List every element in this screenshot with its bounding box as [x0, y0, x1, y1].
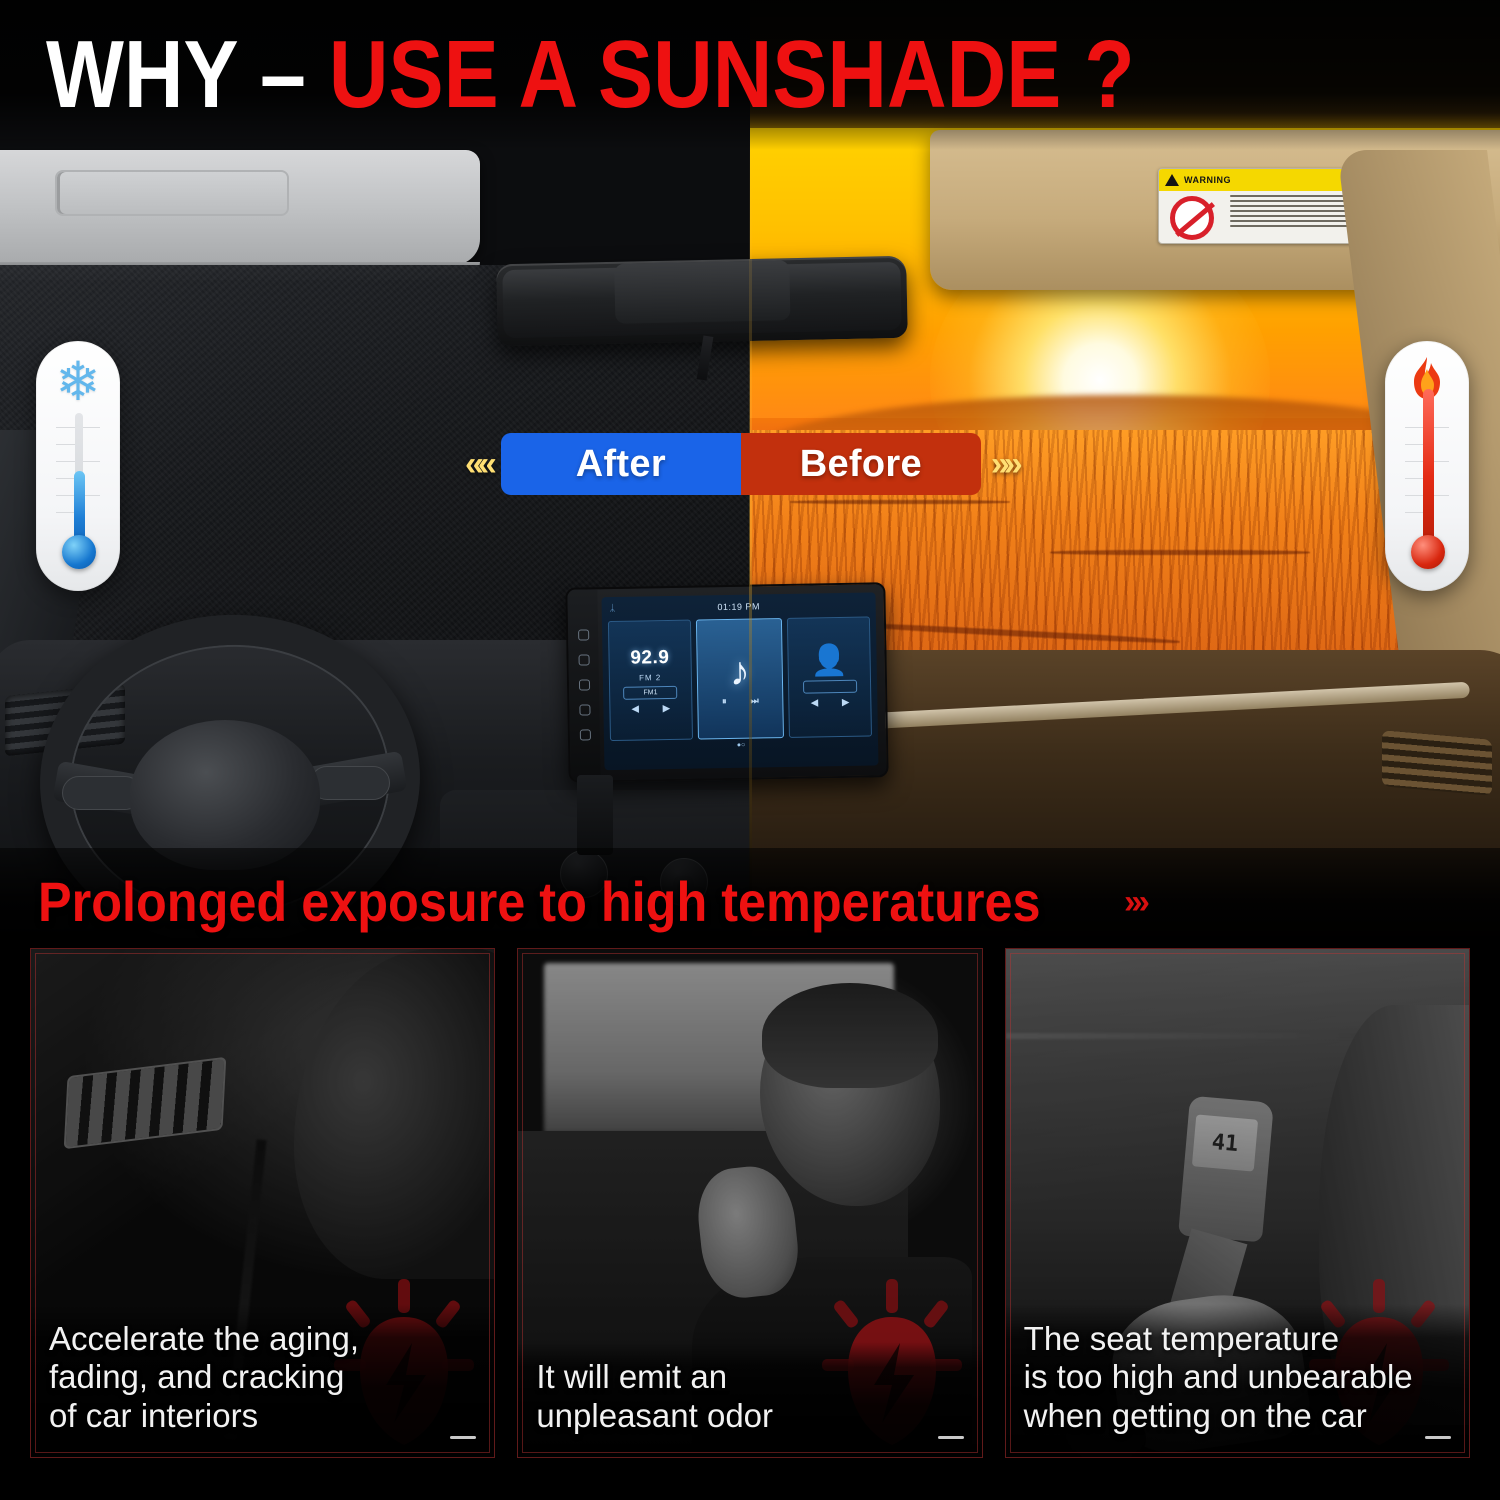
- panel-caption: The seat temperature is too high and unb…: [1006, 1304, 1469, 1457]
- music-note-icon: ♪: [729, 651, 750, 691]
- thermometer-reading: 41: [1210, 1129, 1239, 1156]
- head-unit-key-power[interactable]: [579, 729, 590, 740]
- phone-next-icon[interactable]: ▶: [842, 697, 849, 708]
- snowflake-icon: ❄: [36, 355, 120, 409]
- hot-thermometer: [1385, 341, 1469, 591]
- chevron-right-triple-icon: ›››: [1124, 883, 1146, 922]
- head-unit-key-menu[interactable]: [578, 654, 589, 665]
- head-unit-cards: 92.9 FM 2 FM1 ◀ ▶ ♪ ⏸ ⏭: [608, 616, 872, 741]
- caption-dash-marker: [938, 1436, 964, 1439]
- steering-buttons-right: [310, 766, 390, 800]
- head-unit-status-bar: ᛦ 01:19 PM: [608, 597, 870, 616]
- radio-prev-icon[interactable]: ◀: [632, 703, 639, 714]
- cold-thermometer-bulb: [62, 535, 96, 569]
- head-unit-clock: 01:19 PM: [717, 601, 760, 612]
- caption-dash-marker: [450, 1436, 476, 1439]
- warning-label-text: WARNING: [1184, 175, 1231, 185]
- caption-dash-marker: [1425, 1436, 1451, 1439]
- subhead-text: Prolonged exposure to high temperatures: [38, 874, 1041, 930]
- radio-next-icon[interactable]: ▶: [663, 703, 670, 714]
- head-unit-key-home[interactable]: [578, 629, 589, 640]
- radio-band: FM 2: [639, 673, 661, 682]
- page-title: WHY – USE A SUNSHADE ?: [46, 27, 1135, 123]
- after-badge[interactable]: After: [501, 433, 741, 495]
- defroster-vent-icon: [64, 1057, 227, 1150]
- phone-pill[interactable]: [803, 680, 857, 694]
- head-unit-mount-bracket: [577, 775, 613, 855]
- before-after-toggle[interactable]: «« After Before »»: [455, 433, 1027, 495]
- before-badge[interactable]: Before: [741, 433, 981, 495]
- phone-prev-icon[interactable]: ◀: [811, 697, 818, 708]
- radio-tune-controls[interactable]: ◀ ▶: [632, 703, 670, 715]
- rearview-mirror: [496, 256, 908, 347]
- warning-label-header: WARNING: [1159, 169, 1369, 191]
- contact-person-icon: 👤: [810, 646, 848, 677]
- visor-warning-label: WARNING: [1158, 168, 1370, 244]
- head-unit-page-dots: ●○: [610, 739, 872, 751]
- infrared-thermometer-display: 41: [1192, 1114, 1258, 1171]
- air-vent-right: [1382, 730, 1492, 796]
- chevron-right-icon: »»: [981, 445, 1027, 484]
- panel-caption-text: The seat temperature is too high and unb…: [1024, 1320, 1451, 1435]
- mirror-camera-housing: [614, 260, 790, 324]
- infotainment-head-unit[interactable]: ᛦ 01:19 PM 92.9 FM 2 FM1 ◀ ▶ ♪: [565, 582, 888, 783]
- grey-sun-visor: [0, 150, 480, 265]
- panel-caption-text: It will emit an unpleasant odor: [536, 1358, 963, 1435]
- man-hair: [762, 983, 938, 1088]
- benefit-panels: Accelerate the aging, fading, and cracki…: [0, 948, 1500, 1500]
- panel-interior-aging: Accelerate the aging, fading, and cracki…: [30, 948, 495, 1458]
- no-child-seat-icon: [1159, 191, 1225, 244]
- headline-white: WHY: [46, 21, 260, 128]
- head-unit-key-volume[interactable]: [578, 679, 589, 690]
- media-card[interactable]: ♪ ⏸ ⏭: [696, 618, 785, 739]
- head-unit-screen[interactable]: ᛦ 01:19 PM 92.9 FM 2 FM1 ◀ ▶ ♪: [601, 592, 878, 770]
- panel-seat-temperature: 41 The sea: [1005, 948, 1470, 1458]
- phone-card[interactable]: 👤 ◀ ▶: [787, 616, 872, 737]
- cold-thermometer: ❄: [36, 341, 120, 591]
- hot-thermometer-mercury: [1423, 389, 1434, 549]
- headline-bar: WHY – USE A SUNSHADE ?: [0, 0, 1500, 150]
- phone-browse-controls[interactable]: ◀ ▶: [811, 697, 849, 709]
- warning-label-body: [1159, 191, 1369, 244]
- chevron-left-icon: ««: [455, 445, 501, 484]
- media-transport-controls[interactable]: ⏸ ⏭: [722, 695, 759, 707]
- head-unit-side-keys[interactable]: [567, 589, 600, 780]
- warning-triangle-icon: [1165, 174, 1179, 186]
- radio-card[interactable]: 92.9 FM 2 FM1 ◀ ▶: [608, 620, 693, 741]
- bluetooth-icon: ᛦ: [610, 603, 616, 613]
- panel-caption: It will emit an unpleasant odor: [518, 1342, 981, 1457]
- head-unit-key-audio[interactable]: [579, 704, 590, 715]
- split-seam: [749, 128, 752, 938]
- panel-caption: Accelerate the aging, fading, and cracki…: [31, 1304, 494, 1457]
- subhead-row: Prolonged exposure to high temperatures …: [38, 874, 1146, 930]
- hot-thermometer-bulb: [1411, 535, 1445, 569]
- seat-shape: [294, 949, 495, 1279]
- radio-frequency: 92.9: [630, 647, 669, 670]
- panel-odor: It will emit an unpleasant odor: [517, 948, 982, 1458]
- headline-dash: –: [260, 21, 329, 128]
- radio-preset[interactable]: FM1: [623, 685, 677, 699]
- headline-red: USE A SUNSHADE ?: [329, 21, 1135, 128]
- panel-caption-text: Accelerate the aging, fading, and cracki…: [49, 1320, 476, 1435]
- poster-canvas: WARNING: [0, 0, 1500, 1500]
- media-pause-icon[interactable]: ⏸: [722, 696, 727, 707]
